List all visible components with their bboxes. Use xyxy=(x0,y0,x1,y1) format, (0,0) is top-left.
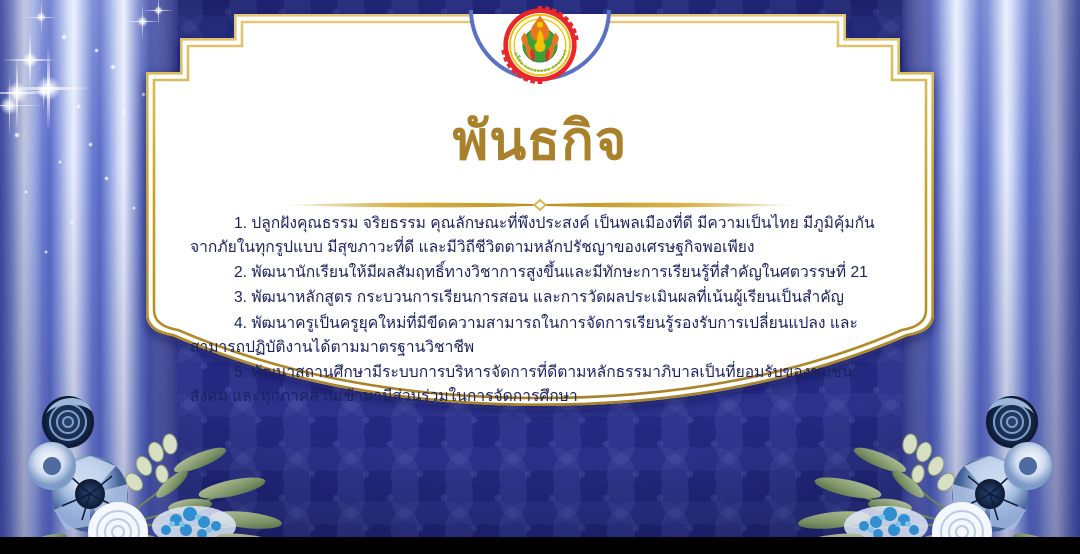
flower-rose-dark xyxy=(986,396,1038,448)
divider-ornament-icon xyxy=(275,198,805,212)
mission-item: 5. พัฒนาสถานศึกษามีระบบการบริหารจัดการที… xyxy=(190,361,890,409)
flower-rose-dark xyxy=(42,396,94,448)
mission-item: 4. พัฒนาครูเป็นครูยุคใหม่ที่มีขีดความสาม… xyxy=(190,312,890,360)
mission-list: 1. ปลูกฝังคุณธรรม จริยธรรม คุณลักษณะที่พ… xyxy=(190,212,890,410)
mission-item: 2. พัฒนานักเรียนให้มีผลสัมฤทธิ์ทางวิชากา… xyxy=(190,261,890,285)
floral-bouquet-icon xyxy=(0,374,294,554)
flower-light xyxy=(1004,442,1052,490)
flower-light xyxy=(28,442,76,490)
title-divider xyxy=(275,198,805,212)
mission-item: 1. ปลูกฝังคุณธรรม จริยธรรม คุณลักษณะที่พ… xyxy=(190,212,890,260)
floral-bouquet-icon xyxy=(786,374,1080,554)
floral-decoration-left xyxy=(0,374,294,554)
page-title: พันธกิจ xyxy=(146,114,934,168)
mission-item: 3. พัฒนาหลักสูตร กระบวนการเรียนการสอน แล… xyxy=(190,286,890,310)
letterbox-bar-bottom xyxy=(0,537,1080,554)
emblem-zone: โรงเรียน ๐๐๐๐๐๐๐๐ ๐๐๐๐๐๐๐๐ xyxy=(146,0,934,104)
school-emblem: โรงเรียน ๐๐๐๐๐๐๐๐ ๐๐๐๐๐๐๐๐ xyxy=(501,6,579,84)
mission-poster: โรงเรียน ๐๐๐๐๐๐๐๐ ๐๐๐๐๐๐๐๐ พันธกิจ xyxy=(0,0,1080,554)
school-emblem-icon: โรงเรียน ๐๐๐๐๐๐๐๐ ๐๐๐๐๐๐๐๐ xyxy=(501,6,579,84)
floral-decoration-right xyxy=(786,374,1080,554)
